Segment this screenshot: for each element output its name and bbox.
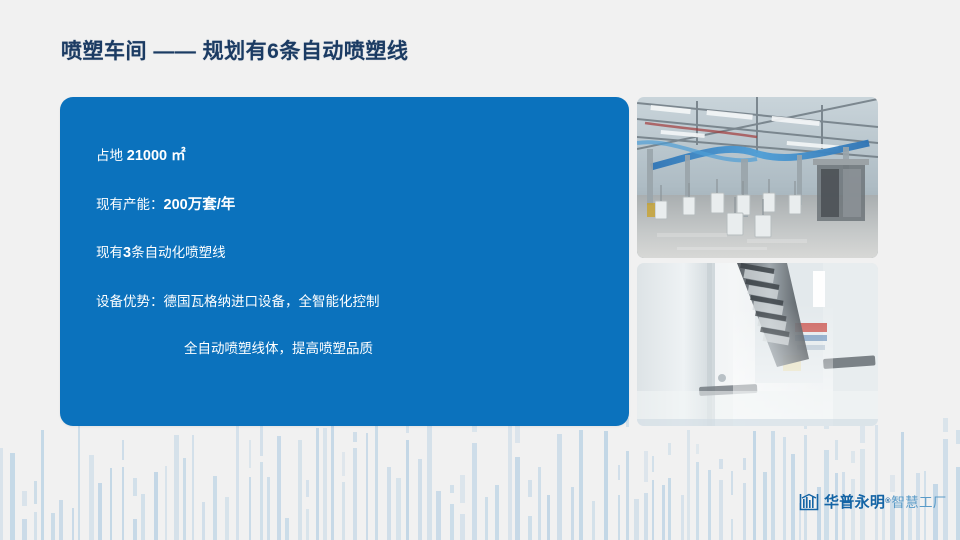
info-line-emphasis: 21000 ㎡ [127,148,186,164]
decorative-bar [366,433,368,540]
decorative-bar [743,483,746,540]
decorative-bar [183,458,186,540]
decorative-bar [331,419,334,540]
decorative-bar [901,432,904,540]
decorative-bar [298,440,302,540]
photo-spray-booth [637,263,878,426]
info-line-emphasis: 3 [123,245,131,261]
decorative-bar [202,502,205,540]
decorative-bar [22,519,27,540]
decorative-bar [174,435,179,540]
info-line: 占地 21000 ㎡ [96,149,605,164]
decorative-bar [771,431,775,540]
decorative-bar-segment [618,465,620,480]
decorative-bar [571,487,574,540]
decorative-bar [260,462,263,540]
decorative-bar [34,512,37,540]
decorative-bar [731,519,733,540]
decorative-bar [668,478,671,540]
decorative-bar [89,455,94,540]
decorative-bar [719,480,723,540]
decorative-bar-segment [528,480,532,497]
decorative-bar [192,435,194,540]
info-line-emphasis: 200万套/年 [164,197,236,213]
brand-subtitle: 智慧工厂 [891,491,946,511]
decorative-bar [557,434,562,540]
decorative-bar [59,500,63,540]
decorative-bar [406,440,409,540]
decorative-bar [225,497,229,540]
decorative-bar [51,513,55,540]
decorative-bar-segment [260,424,263,456]
decorative-bar [323,428,327,540]
decorative-bar [236,424,239,540]
decorative-bar [122,467,124,540]
decorative-bar [592,501,595,540]
decorative-bar [460,514,465,540]
decorative-bar-segment [22,491,27,506]
decorative-bar [10,453,15,540]
decorative-bar-segment [943,418,948,432]
decorative-bar-segment [353,432,357,442]
registered-mark: ® [885,498,890,505]
decorative-bar [450,504,454,540]
decorative-bar-segment [652,456,654,472]
info-line-lead: 全自动喷塑线体，提高喷塑品质 [184,341,373,356]
decorative-bar [508,425,512,540]
decorative-bar-segment [133,478,137,496]
decorative-bar [306,509,309,540]
photo-spray-booth-graphic [637,263,878,426]
decorative-bar-segment [342,452,345,476]
slide-canvas: 喷塑车间 —— 规划有6条自动喷塑线 占地 21000 ㎡现有产能：200万套/… [0,0,960,540]
factory-mark-icon [799,492,819,511]
decorative-bar-segment [306,480,309,497]
brand-name: 华普永明 [824,491,885,512]
decorative-bar [579,430,583,540]
decorative-bar-segment [731,471,733,495]
decorative-bar [418,459,422,540]
decorative-bar-segment [460,475,465,503]
decorative-bar [316,428,319,540]
decorative-bar [154,472,158,540]
decorative-bar [708,470,711,540]
decorative-bar [791,454,795,540]
photo-workshop-panorama [637,97,878,258]
decorative-bar [387,467,391,540]
decorative-bar [687,430,690,540]
info-panel: 占地 21000 ㎡现有产能：200万套/年现有3条自动化喷塑线设备优势：德国瓦… [60,97,629,426]
decorative-bar [696,462,699,540]
decorative-bar-segment [249,440,251,468]
photo-workshop-graphic [637,97,878,258]
decorative-bar [141,494,145,540]
decorative-bar [427,418,432,540]
brand-logo: 华普永明 ® 智慧工厂 [799,489,947,513]
info-line: 现有3条自动化喷塑线 [96,246,605,261]
decorative-bar-segment [34,481,37,504]
decorative-bar [396,478,401,540]
decorative-bar-segment [696,444,699,454]
decorative-bar [342,482,345,540]
page-title: 喷塑车间 —— 规划有6条自动喷塑线 [61,35,408,65]
info-line-lead: 设备优势：德国瓦格纳进口设备，全智能化控制 [96,294,380,309]
decorative-bar-segment [719,459,723,469]
decorative-bar [249,477,251,540]
decorative-bar [110,468,112,540]
decorative-bar [528,516,532,540]
decorative-bar [267,477,270,540]
decorative-bar-segment [835,440,838,460]
decorative-bar-segment [668,443,671,455]
decorative-bar [804,435,807,540]
info-line: 设备优势：德国瓦格纳进口设备，全智能化控制 [96,295,605,309]
decorative-bar [165,466,167,540]
info-list: 占地 21000 ㎡现有产能：200万套/年现有3条自动化喷塑线设备优势：德国瓦… [96,149,605,356]
decorative-bar [515,457,520,540]
decorative-bar [618,495,620,540]
decorative-bar [644,493,648,540]
decorative-bar-pattern [0,418,960,540]
info-line: 全自动喷塑线体，提高喷塑品质 [96,342,605,356]
decorative-bar [495,485,499,540]
decorative-bar [285,518,289,540]
decorative-bar-segment [644,451,648,482]
decorative-bar [78,426,80,540]
decorative-bar [485,497,488,540]
decorative-bar [41,430,44,540]
decorative-bar [662,485,665,540]
decorative-bar [547,495,550,540]
decorative-bar [634,499,639,540]
decorative-bar [956,467,960,540]
decorative-bar [133,519,137,540]
decorative-bar [472,443,477,540]
decorative-bar-segment [122,440,124,460]
decorative-bar [72,508,74,540]
info-line-lead: 现有产能： [96,197,164,212]
decorative-bar-segment [450,485,454,493]
info-line: 现有产能：200万套/年 [96,198,605,213]
decorative-bar [626,451,629,540]
decorative-bar-segment [743,458,746,470]
decorative-bar [98,483,102,540]
decorative-bar [277,436,281,540]
decorative-bar [436,491,441,540]
decorative-bar [783,437,786,540]
info-line-lead: 占地 [96,148,127,163]
decorative-bar [652,480,654,540]
decorative-bar [604,431,608,540]
info-line-lead: 现有 [96,245,123,260]
decorative-bar [538,467,541,540]
decorative-bar [0,448,3,540]
decorative-bar-segment [851,451,855,463]
decorative-bar [763,472,767,540]
decorative-bar [875,425,878,540]
decorative-bar-segment [956,430,960,444]
decorative-bar [353,448,357,540]
decorative-bar [681,495,684,540]
info-line-tail: 条自动化喷塑线 [131,245,226,260]
decorative-bar [375,419,378,540]
decorative-bar [213,476,217,540]
decorative-bar [753,431,756,540]
